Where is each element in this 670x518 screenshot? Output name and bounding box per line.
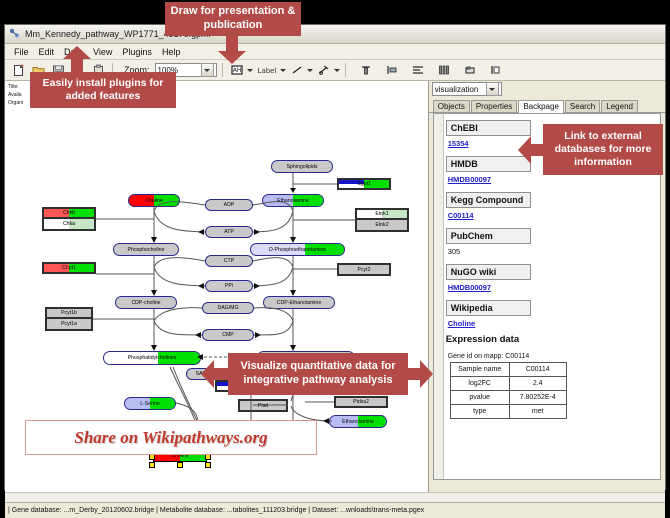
selection-handle-sw[interactable] [149, 462, 155, 468]
tab-legend[interactable]: Legend [601, 100, 638, 112]
line-dropdown[interactable] [288, 61, 313, 79]
group-icon[interactable] [461, 61, 479, 79]
table-row: Sample name C00114 [450, 363, 566, 377]
menu-plugins[interactable]: Plugins [117, 46, 157, 58]
chevron-down-icon[interactable] [334, 69, 340, 72]
callout-links-arrow-icon [518, 136, 545, 164]
align-stack-icon[interactable] [409, 61, 427, 79]
svg-text:Label: Label [257, 67, 276, 75]
callout-visualize-arrow-icon [406, 360, 434, 388]
chevron-down-icon[interactable] [280, 69, 286, 72]
gene-label: Chka [63, 221, 75, 227]
distribute-icon[interactable] [435, 61, 453, 79]
gene-label: Ptdss2 [353, 399, 369, 405]
callout-share: Share on Wikipathways.org [25, 420, 317, 455]
backpage-heading-chebi: ChEBI [446, 120, 531, 136]
callout-visualize-text: Visualize quantitative data for integrat… [232, 360, 404, 388]
backpage-scrollbar[interactable] [434, 114, 444, 479]
side-tabs: Objects Properties Backpage Search Legen… [429, 97, 665, 113]
gene-label: Pcyt1a [61, 321, 77, 327]
align-top-icon[interactable] [357, 61, 375, 79]
node-label: PPi [225, 283, 233, 289]
gene-label: Chpt1 [62, 265, 76, 271]
chevron-down-icon[interactable] [201, 63, 214, 77]
node-label: ADP [224, 202, 235, 208]
toolbar-separator [222, 63, 223, 77]
backpage-value-pubchem: 305 [448, 247, 658, 256]
visualization-toolbar: visualization [429, 81, 665, 97]
table-row: type met [450, 405, 566, 419]
backpage-heading-kegg: Kegg Compound [446, 192, 532, 208]
svg-text:AH: AH [232, 67, 241, 74]
table-row: log2FC 2.4 [450, 377, 566, 391]
receptor-dropdown[interactable] [315, 61, 340, 79]
node-label: CTP [224, 258, 234, 264]
node-label: Ethanolamine [342, 419, 374, 425]
callout-visualize: Visualize quantitative data for integrat… [228, 353, 408, 395]
backpage-heading-wikipedia: Wikipedia [446, 300, 531, 316]
cell-value: 2.4 [509, 377, 566, 391]
callout-plugins-text: Easily install plugins for added feature… [34, 77, 172, 103]
receptor-icon[interactable] [315, 61, 333, 79]
toolbar-separator [345, 63, 346, 77]
gene-label: Etnk2 [375, 222, 388, 228]
gene-label: Pcyt1b [61, 310, 77, 316]
gene-label: Chkb [63, 210, 75, 216]
menu-file[interactable]: File [9, 46, 34, 58]
expression-data-heading: Expression data [446, 334, 658, 345]
node-label: Choline [145, 198, 163, 204]
menubar: File Edit Data View Plugins Help [5, 44, 665, 60]
pathvisio-icon [9, 28, 21, 40]
align-left-icon[interactable] [383, 61, 401, 79]
callout-plugins: Easily install plugins for added feature… [30, 72, 176, 108]
label-dropdown[interactable]: Label [255, 61, 286, 79]
node-label: Phosphocholine [128, 247, 165, 253]
backpage-link-hmdb[interactable]: HMDB00097 [448, 175, 658, 184]
tab-search[interactable]: Search [565, 100, 600, 112]
callout-plugins-arrow-icon [63, 46, 91, 74]
callout-links-text: Link to external databases for more info… [547, 130, 659, 169]
callout-visualize-arrow-left-icon [200, 360, 228, 388]
visualization-value: visualization [435, 85, 486, 94]
order-icon[interactable] [487, 61, 505, 79]
callout-share-text: Share on Wikipathways.org [74, 428, 267, 448]
node-label: Ethanolamine [277, 198, 309, 204]
label-icon[interactable]: Label [255, 61, 279, 79]
cell-key: log2FC [450, 377, 509, 391]
node-label: L-Serine [140, 401, 160, 407]
window-titlebar: Mm_Kennedy_pathway_WP1771_45176.gpml [5, 25, 665, 44]
canvas-info-title: Title: [8, 83, 19, 91]
cell-value: 7.80252E-4 [509, 391, 566, 405]
statusbar-text: | Gene database: ...m_Derby_20120602.bri… [8, 507, 424, 514]
callout-draw: Draw for presentation & publication [165, 2, 301, 36]
node-label: DAG/MG [217, 305, 238, 311]
visualization-combo[interactable]: visualization [432, 82, 502, 96]
gene-label: Pisd [258, 403, 268, 409]
line-icon[interactable] [288, 61, 306, 79]
node-label: Phosphatidylcholines [128, 355, 177, 361]
selection-handle-s[interactable] [177, 462, 183, 468]
node-label: ATP [224, 229, 234, 235]
cell-key: Sample name [450, 363, 509, 377]
canvas-info-availability: Availa [8, 91, 22, 99]
chevron-down-icon[interactable] [307, 69, 313, 72]
cell-key: pvalue [450, 391, 509, 405]
table-row: pvalue 7.80252E-4 [450, 391, 566, 405]
chevron-down-icon[interactable] [486, 82, 499, 96]
cell-value: C00114 [509, 363, 566, 377]
selection-handle-se[interactable] [205, 462, 211, 468]
callout-draw-arrow-icon [218, 35, 246, 65]
node-label: CDP-Ethanolamine [277, 300, 321, 306]
callout-links: Link to external databases for more info… [543, 124, 663, 175]
menu-view[interactable]: View [88, 46, 117, 58]
backpage-heading-pubchem: PubChem [446, 228, 531, 244]
menu-edit[interactable]: Edit [34, 46, 60, 58]
backpage-link-wikipedia[interactable]: Choline [448, 319, 658, 328]
backpage-link-kegg[interactable]: C00114 [448, 211, 658, 220]
statusbar: | Gene database: ...m_Derby_20120602.bri… [5, 502, 665, 518]
node-label: Sphingolipids [287, 164, 318, 170]
node-label: O-Phosphoethanolamine [269, 247, 326, 253]
menu-help[interactable]: Help [157, 46, 186, 58]
gene-id-label: Gene id on mapp: C00114 [448, 353, 658, 360]
gene-label: Sgpl1 [357, 181, 370, 187]
node-label: CMP [222, 332, 234, 338]
new-file-icon[interactable] [9, 61, 27, 79]
gene-label: Etnk1 [375, 211, 388, 217]
tab-backpage[interactable]: Backpage [518, 100, 564, 113]
tab-properties[interactable]: Properties [471, 100, 517, 112]
callout-draw-text: Draw for presentation & publication [169, 5, 297, 33]
cell-key: type [450, 405, 509, 419]
canvas-info-organism: Organi [8, 99, 23, 107]
canvas-hscrollbar[interactable] [5, 492, 665, 502]
chevron-down-icon[interactable] [247, 69, 253, 72]
backpage-link-nugo[interactable]: HMDB00097 [448, 283, 658, 292]
expression-data-table: Sample name C00114 log2FC 2.4 pvalue 7.8… [450, 362, 567, 419]
cell-value: met [509, 405, 566, 419]
node-label: CDP-choline [131, 300, 160, 306]
gene-label: Pcyt2 [358, 267, 371, 273]
backpage-heading-nugo: NuGO wiki [446, 264, 531, 280]
tab-objects[interactable]: Objects [433, 100, 470, 112]
